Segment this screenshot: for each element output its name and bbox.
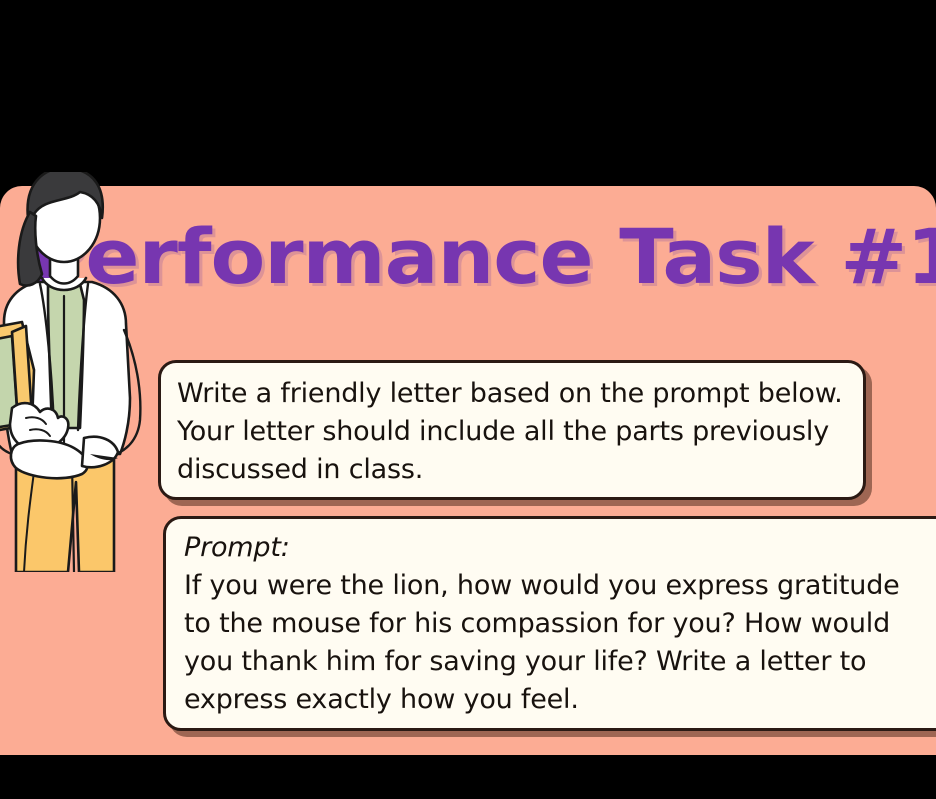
page-title: Performance Task #1 [28, 207, 936, 307]
prompt-text: If you were the lion, how would you expr… [184, 567, 934, 719]
letterbox-top-bar [0, 0, 936, 186]
prompt-callout: Prompt: If you were the lion, how would … [163, 516, 936, 731]
prompt-label: Prompt: [184, 529, 934, 567]
instruction-text: Write a friendly letter based on the pro… [177, 375, 847, 489]
slide-screen: Performance Task #1 Write a friendly let… [0, 0, 936, 799]
letterbox-bottom-bar [0, 755, 936, 799]
instruction-callout: Write a friendly letter based on the pro… [158, 360, 866, 500]
